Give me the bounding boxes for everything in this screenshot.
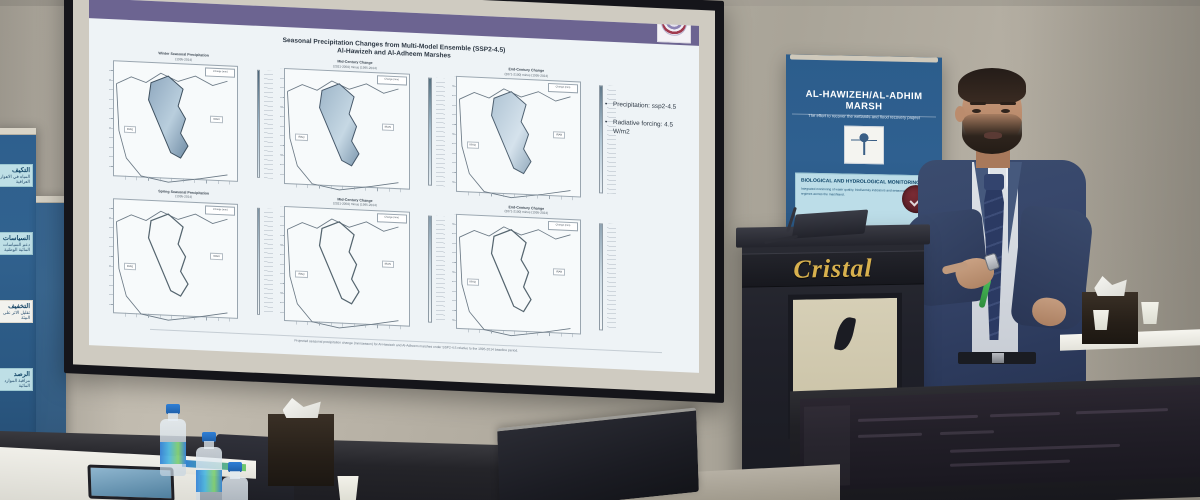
banner-card-title: السياسات — [0, 235, 30, 242]
bottle-label — [196, 470, 222, 492]
map-axes: Change (mm) IRAN IRAQ — [284, 68, 409, 189]
banner-top-rail — [36, 196, 66, 203]
map-label-iraq: IRAQ — [467, 278, 479, 286]
colorbar-ticks — [436, 215, 445, 323]
map-label-iraq: IRAQ — [295, 271, 307, 279]
bullet-dot-icon: • — [605, 100, 607, 109]
slide-header-title: Precipitation — [291, 0, 419, 13]
presenter-mouth — [984, 132, 1002, 139]
banner-card-body: المياه في الاهوار العراقية — [0, 174, 30, 184]
map-axes: Change (mm) IRAN IRAQ — [456, 76, 581, 197]
colorbar-ticks — [264, 208, 273, 316]
presenter-eye-left — [972, 109, 981, 113]
map-label-iran: IRAN — [382, 261, 394, 269]
tissue-box-left — [268, 414, 334, 486]
monitor-ui-row — [858, 433, 922, 438]
map-colorbar — [599, 223, 603, 331]
monitor-ui-row — [940, 430, 994, 435]
banner-card-body: تقليل الاثر على البيئة — [0, 310, 30, 320]
projection-screen-frame: Precipitation Seasonal Precipitation Cha… — [64, 0, 724, 403]
map-legend: Change (mm) — [548, 220, 578, 230]
podium-brand-name: Cristal — [793, 253, 872, 284]
institution-emblem-icon — [661, 9, 687, 36]
presenter-tie-knot — [984, 174, 1004, 190]
slide-bullet: • Precipitation: ssp2-4.5 — [605, 100, 693, 113]
projection-screen-mat: Precipitation Seasonal Precipitation Cha… — [73, 0, 715, 394]
presenter-eyebrow-right — [1000, 102, 1016, 105]
slide-bullet-text: Precipitation: ssp2-4.5 — [613, 101, 676, 111]
slide-logo — [657, 2, 691, 44]
map-panel: End-Century Change (2071-2100) minus (19… — [446, 64, 607, 205]
presentation-slide: Precipitation Seasonal Precipitation Cha… — [89, 0, 699, 373]
map-colorbar — [257, 70, 261, 178]
map-label-iraq: IRAQ — [124, 263, 136, 271]
map-panel: Winter Seasonal Precipitation (1995-2014… — [103, 49, 264, 190]
map-axes: Change (mm) IRAN IRAQ — [456, 213, 581, 334]
banner-card-title: التخفيف — [0, 303, 30, 310]
slide-bullet-list: • Precipitation: ssp2-4.5 • Radiative fo… — [605, 100, 693, 140]
map-axes: Change (mm) IRAN IRAQ — [113, 60, 238, 181]
foreground-monitor[interactable] — [800, 385, 1200, 491]
map-label-iran: IRAN — [210, 116, 222, 124]
banner-card: الرصد مراقبة الموارد المائية — [0, 368, 33, 391]
colorbar-ticks — [264, 70, 273, 178]
monitor-ui-row — [950, 460, 1070, 467]
monitor-ui-row — [1076, 408, 1168, 414]
map-colorbar — [599, 85, 603, 193]
banner-card-body: دعم السياسات المائية الوطنية — [0, 242, 30, 252]
banner-card: السياسات دعم السياسات المائية الوطنية — [0, 232, 33, 255]
map-label-iraq: IRAQ — [467, 141, 479, 149]
map-label-iran: IRAN — [553, 131, 565, 139]
colorbar-gradient — [429, 79, 431, 185]
tissue-box-right — [1082, 292, 1138, 344]
map-axes: Change (mm) IRAN IRAQ — [113, 198, 238, 319]
presenter-ear — [955, 106, 965, 122]
map-colorbar — [428, 78, 432, 186]
map-panel: Spring Seasonal Precipitation (1995-2014… — [103, 186, 264, 327]
marsh-authority-logo-icon — [851, 132, 877, 159]
monitor-ui-row — [990, 412, 1060, 417]
microphone-icon — [760, 204, 806, 241]
map-label-iran: IRAN — [210, 253, 222, 261]
map-colorbar — [257, 207, 261, 315]
map-panel: Mid-Century Change (2021-2050) minus (19… — [274, 194, 435, 335]
presenter-hair — [958, 68, 1026, 104]
water-bottle — [160, 404, 186, 476]
map-legend: Change (mm) — [377, 75, 407, 85]
colorbar-gradient — [429, 216, 431, 322]
colorbar-gradient — [600, 224, 602, 330]
colorbar-ticks — [607, 223, 616, 331]
podium-leaf-ornament-icon — [834, 316, 857, 352]
water-bottle — [222, 462, 248, 500]
presenter-eyebrow-left — [970, 102, 986, 105]
banner-top-rail — [0, 128, 36, 135]
podium-nameplate: Cristal — [742, 250, 924, 287]
map-label-iran: IRAN — [553, 269, 565, 277]
colorbar-gradient — [600, 86, 602, 192]
conference-room-photo: التكيف المياه في الاهوار العراقية السياس… — [0, 0, 1200, 500]
slide-accent-bar — [89, 0, 699, 25]
rollup-logo — [844, 126, 884, 165]
map-legend: Change (mm) — [377, 213, 407, 223]
water-bottle — [196, 432, 222, 500]
map-label-iraq: IRAQ — [124, 125, 136, 133]
bottle-body — [222, 477, 248, 500]
banner-card: التخفيف تقليل الاثر على البيئة — [0, 300, 33, 323]
map-label-iraq: IRAQ — [295, 133, 307, 141]
banner-card: التكيف المياه في الاهوار العراقية — [0, 164, 33, 187]
presenter-eye-right — [1001, 109, 1010, 113]
bullet-dot-icon: • — [605, 118, 607, 127]
bottle-label — [160, 442, 186, 464]
map-panel-grid: Winter Seasonal Precipitation (1995-2014… — [103, 49, 607, 343]
presenter-belt-buckle — [992, 353, 1004, 363]
slide-bullet-text: Radiative forcing: 4.5 — [613, 119, 673, 129]
map-colorbar — [428, 215, 432, 323]
map-legend: Change (mm) — [205, 205, 235, 215]
map-legend: Change (mm) — [548, 83, 578, 93]
map-label-iran: IRAN — [382, 123, 394, 131]
map-legend: Change (mm) — [205, 67, 235, 77]
map-panel: Mid-Century Change (2021-2050) minus (19… — [274, 57, 435, 198]
banner-card-body: مراقبة الموارد المائية — [0, 378, 30, 388]
map-panel: End-Century Change (2071-2100) minus (19… — [446, 202, 607, 343]
map-axes: Change (mm) IRAN IRAQ — [284, 206, 409, 327]
banner-card-title: التكيف — [0, 167, 30, 174]
colorbar-gradient — [258, 71, 260, 177]
monitor-ui-row — [950, 444, 1120, 453]
colorbar-ticks — [436, 78, 445, 186]
colorbar-gradient — [258, 208, 260, 314]
monitor-ui-row — [858, 415, 978, 422]
banner-card-title: الرصد — [0, 371, 30, 378]
